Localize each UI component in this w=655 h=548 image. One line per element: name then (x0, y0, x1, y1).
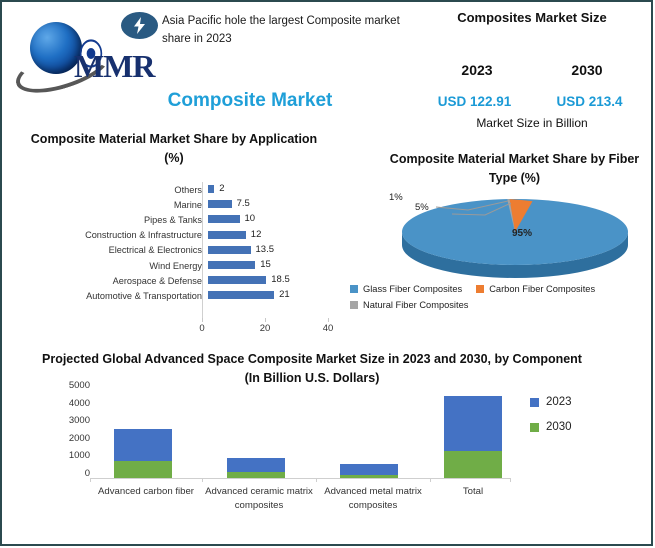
legend-item: Natural Fiber Composites (350, 300, 468, 310)
space-composite-bar-chart (92, 390, 512, 478)
legend-label: Carbon Fiber Composites (489, 284, 595, 294)
x-tick-label: 20 (260, 323, 271, 334)
bar-value-label: 12 (251, 229, 262, 240)
bar-track: 21 (208, 288, 344, 303)
bar-fill (208, 246, 251, 254)
bar-track: 10 (208, 212, 344, 227)
bar-category-label: Others (24, 185, 208, 195)
space-composite-legend: 20232030 (530, 396, 572, 446)
bar-category-label: Marine (24, 200, 208, 210)
pie-label-glass: 95% (512, 228, 532, 239)
bar-track: 12 (208, 228, 344, 243)
legend-swatch (350, 285, 358, 293)
header-highlight-text: Asia Pacific hole the largest Composite … (162, 13, 412, 49)
x-tick (316, 478, 317, 482)
lightning-bolt-icon (121, 12, 158, 39)
bar-value-label: 21 (279, 289, 290, 300)
bar-category-label: Wind Energy (24, 261, 208, 271)
bar-row: Pipes & Tanks10 (24, 212, 344, 227)
bar-row: Electrical & Electronics13.5 (24, 243, 344, 258)
bar-value-label: 10 (245, 213, 256, 224)
bar-fill (208, 291, 274, 299)
page-title: Composite Market (120, 90, 380, 112)
stacked-category-label: Advanced ceramic matrix composites (200, 485, 318, 513)
stacked-bar (114, 429, 172, 478)
legend-swatch (530, 398, 539, 407)
stacked-segment-2030 (444, 451, 502, 478)
legend-item: 2023 (530, 396, 572, 408)
bar-track: 2 (208, 182, 344, 197)
x-tick-label: 40 (323, 323, 334, 334)
legend-label: 2030 (546, 421, 572, 433)
legend-swatch (350, 301, 358, 309)
stacked-segment-2023 (114, 429, 172, 461)
bar-row: Construction & Infrastructure12 (24, 228, 344, 243)
stacked-bar (227, 458, 285, 478)
market-size-years: 2023 2030 (422, 62, 642, 78)
legend-label: Natural Fiber Composites (363, 300, 468, 310)
bar-track: 18.5 (208, 273, 344, 288)
y-tick-label: 3000 (69, 415, 90, 426)
y-tick-label: 4000 (69, 398, 90, 409)
stacked-segment-2023 (227, 458, 285, 473)
bar-row: Aerospace & Defense18.5 (24, 273, 344, 288)
bar-value-label: 15 (260, 259, 271, 270)
x-tick (202, 318, 203, 322)
bar-fill (208, 215, 240, 223)
bar-row: Marine7.5 (24, 197, 344, 212)
legend-label: 2023 (546, 396, 572, 408)
fiber-chart-legend: Glass Fiber CompositesCarbon Fiber Compo… (350, 284, 650, 316)
x-tick (202, 478, 203, 482)
stacked-category-label: Advanced carbon fiber (87, 485, 205, 499)
infographic-frame: ⦿ MMR Asia Pacific hole the largest Comp… (0, 0, 653, 546)
stacked-category-label: Total (414, 485, 532, 499)
application-bar-chart: Others2Marine7.5Pipes & Tanks10Construct… (24, 182, 344, 332)
x-tick (328, 318, 329, 322)
bar-fill (208, 185, 214, 193)
bar-row: Others2 (24, 182, 344, 197)
bar-row: Automotive & Transportation21 (24, 288, 344, 303)
stacked-segment-2030 (114, 461, 172, 478)
x-tick (430, 478, 431, 482)
bar-track: 15 (208, 258, 344, 273)
pie-label-natural: 1% (389, 192, 403, 203)
market-size-year-2023: 2023 (422, 62, 532, 78)
stacked-bar (340, 464, 398, 478)
legend-item: Glass Fiber Composites (350, 284, 462, 294)
legend-item: 2030 (530, 421, 572, 433)
market-size-title: Composites Market Size (422, 10, 642, 25)
bar-value-label: 7.5 (237, 198, 250, 209)
y-tick-label: 5000 (69, 380, 90, 391)
stacked-segment-2023 (340, 464, 398, 476)
logo-text: MMR (74, 48, 155, 85)
market-size-year-2030: 2030 (532, 62, 642, 78)
x-tick (510, 478, 511, 482)
bar-value-label: 2 (219, 183, 224, 194)
stacked-segment-2030 (227, 472, 285, 478)
space-composite-y-axis: 010002000300040005000 (50, 385, 90, 485)
bar-category-label: Automotive & Transportation (24, 291, 208, 301)
bar-fill (208, 276, 266, 284)
legend-swatch (476, 285, 484, 293)
y-tick-label: 2000 (69, 433, 90, 444)
bar-category-label: Aerospace & Defense (24, 276, 208, 286)
stacked-segment-2030 (340, 475, 398, 478)
bar-category-label: Construction & Infrastructure (24, 230, 208, 240)
bar-track: 13.5 (208, 243, 344, 258)
x-tick-label: 0 (199, 323, 204, 334)
market-size-values: USD 122.91 USD 213.4 (417, 94, 647, 109)
x-tick (90, 478, 91, 482)
market-size-value-2023: USD 122.91 (417, 94, 532, 109)
x-tick (265, 318, 266, 322)
stacked-bar (444, 396, 502, 478)
bar-fill (208, 231, 246, 239)
bar-category-label: Electrical & Electronics (24, 245, 208, 255)
bar-track: 7.5 (208, 197, 344, 212)
bar-value-label: 18.5 (271, 274, 290, 285)
y-tick-label: 1000 (69, 450, 90, 461)
space-composite-chart-title: Projected Global Advanced Space Composit… (42, 350, 582, 389)
application-chart-title: Composite Material Market Share by Appli… (24, 130, 324, 168)
legend-label: Glass Fiber Composites (363, 284, 462, 294)
bar-fill (208, 200, 232, 208)
pie-label-carbon: 5% (415, 202, 429, 213)
fiber-pie-chart: 1% 5% 95% (390, 188, 640, 283)
market-size-value-2030: USD 213.4 (532, 94, 647, 109)
application-chart-x-axis: 02040 (202, 318, 332, 340)
bar-fill (208, 261, 255, 269)
space-composite-baseline (90, 478, 510, 479)
bar-value-label: 13.5 (256, 244, 275, 255)
bar-row: Wind Energy15 (24, 258, 344, 273)
market-size-subtitle: Market Size in Billion (422, 116, 642, 130)
legend-swatch (530, 423, 539, 432)
stacked-segment-2023 (444, 396, 502, 451)
legend-item: Carbon Fiber Composites (476, 284, 595, 294)
bar-category-label: Pipes & Tanks (24, 215, 208, 225)
fiber-chart-title: Composite Material Market Share by Fiber… (382, 150, 647, 188)
